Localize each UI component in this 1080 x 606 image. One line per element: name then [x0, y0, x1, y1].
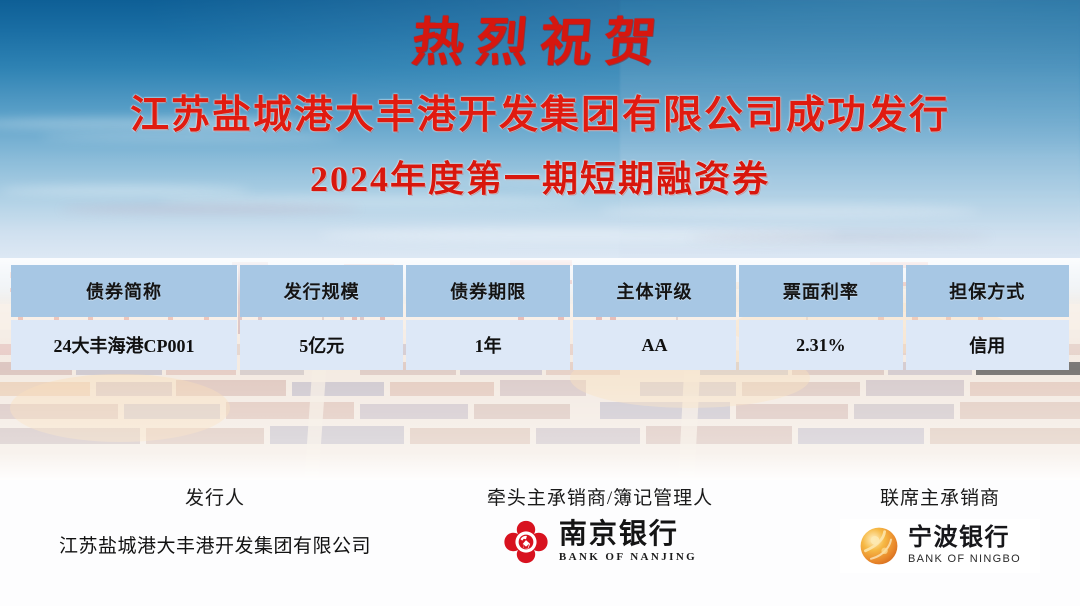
nanjing-name-en: BANK OF NANJING [559, 552, 697, 563]
ningbo-wordmark: 宁波银行 BANK OF NINGBO [908, 526, 1021, 565]
ningbo-name-cn: 宁波银行 [908, 526, 1010, 550]
issuer-headline: 江苏盐城港大丰港开发集团有限公司成功发行 [0, 95, 1080, 138]
cell-coupon-rate: 2.31% [739, 320, 902, 370]
banner-stage: 热烈祝贺 江苏盐城港大丰港开发集团有限公司成功发行 2024年度第一期短期融资券… [0, 0, 1080, 606]
cell-tenor: 1年 [406, 320, 569, 370]
cell-guarantee: 信用 [906, 320, 1069, 370]
bond-summary-table: 债券简称 发行规模 债券期限 主体评级 票面利率 担保方式 24大丰海港CP00… [8, 262, 1072, 373]
cell-issue-size: 5亿元 [240, 320, 403, 370]
headline-block: 热烈祝贺 江苏盐城港大丰港开发集团有限公司成功发行 2024年度第一期短期融资券 [0, 0, 1080, 200]
ningbo-sphere-icon [859, 526, 899, 566]
column-header-coupon-rate: 票面利率 [739, 265, 902, 317]
footer-parties: 发行人 江苏盐城港大丰港开发集团有限公司 牵头主承销商/簿记管理人 南京银行 [0, 480, 1080, 606]
column-header-bond-name: 债券简称 [11, 265, 237, 317]
column-header-tenor: 债券期限 [406, 265, 569, 317]
bond-summary-table-wrap: 债券简称 发行规模 债券期限 主体评级 票面利率 担保方式 24大丰海港CP00… [8, 262, 1072, 373]
column-header-guarantee: 担保方式 [906, 265, 1069, 317]
joint-underwriter-role-label: 联席主承销商 [800, 488, 1080, 511]
cloud-streak [690, 232, 990, 242]
column-header-issuer-rating: 主体评级 [573, 265, 736, 317]
ningbo-name-en: BANK OF NINGBO [908, 554, 1021, 565]
congratulation-title: 热烈祝贺 [0, 16, 1080, 71]
lead-underwriter-role-label: 牵头主承销商/簿记管理人 [400, 488, 800, 511]
bond-headline: 2024年度第一期短期融资券 [0, 160, 1080, 200]
nanjing-wordmark: 南京银行 BANK OF NANJING [559, 521, 697, 563]
lead-underwriter-block: 牵头主承销商/簿记管理人 南京银行 BANK OF NANJING [400, 488, 800, 565]
table-header-row: 债券简称 发行规模 债券期限 主体评级 票面利率 担保方式 [11, 265, 1069, 317]
cell-issuer-rating: AA [573, 320, 736, 370]
bank-of-ningbo-logo: 宁波银行 BANK OF NINGBO [840, 519, 1040, 573]
joint-underwriter-block: 联席主承销商 [800, 488, 1080, 573]
issuer-role-label: 发行人 [0, 488, 430, 511]
bank-of-nanjing-logo: 南京银行 BANK OF NANJING [400, 519, 800, 565]
nanjing-name-cn: 南京银行 [559, 521, 679, 549]
cloud-streak [600, 205, 980, 217]
issuer-block: 发行人 江苏盐城港大丰港开发集团有限公司 [0, 488, 430, 558]
column-header-issue-size: 发行规模 [240, 265, 403, 317]
cloud-streak [60, 205, 360, 213]
table-row: 24大丰海港CP001 5亿元 1年 AA 2.31% 信用 [11, 320, 1069, 370]
issuer-company-name: 江苏盐城港大丰港开发集团有限公司 [0, 531, 430, 558]
cell-bond-name: 24大丰海港CP001 [11, 320, 237, 370]
nanjing-rose-icon [503, 519, 549, 565]
